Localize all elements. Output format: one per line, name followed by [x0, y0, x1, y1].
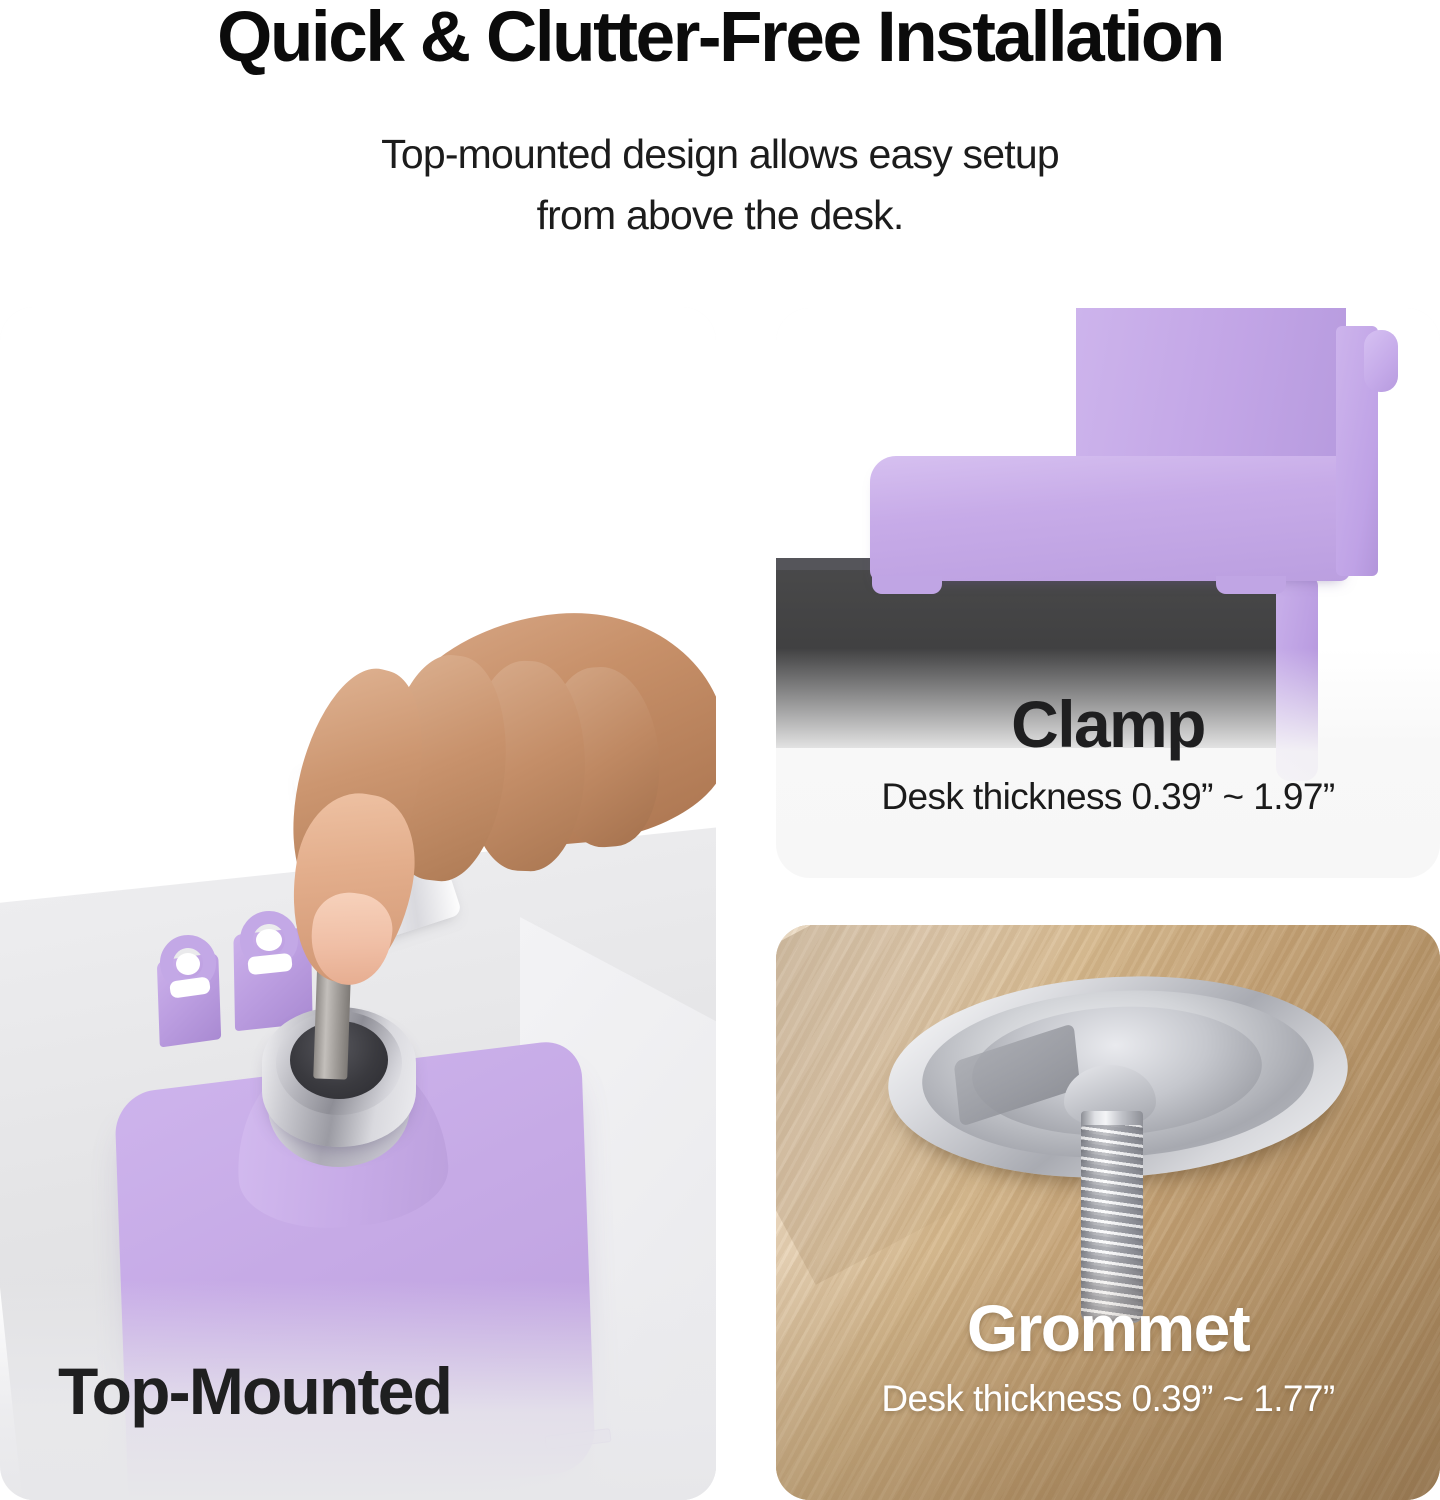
clamp-pad [872, 576, 942, 594]
page-title: Quick & Clutter-Free Installation [0, 2, 1440, 73]
clamp-horizontal-arm [870, 456, 1350, 581]
grommet-caption-block: Grommet Desk thickness 0.39” ~ 1.77” [776, 1295, 1440, 1421]
clamp-title: Clamp [776, 691, 1440, 757]
panel-clamp: Clamp Desk thickness 0.39” ~ 1.97” [776, 308, 1440, 878]
subtitle-line-1: Top-mounted design allows easy setup [0, 124, 1440, 185]
product-feature-page: Quick & Clutter-Free Installation Top-mo… [0, 0, 1440, 1500]
page-header: Quick & Clutter-Free Installation Top-mo… [0, 0, 1440, 300]
cable-clip-hole [176, 953, 200, 975]
clamp-pad [1216, 576, 1286, 594]
subtitle-line-2: from above the desk. [0, 185, 1440, 246]
clamp-knob [1364, 330, 1398, 392]
panel-grommet: Grommet Desk thickness 0.39” ~ 1.77” [776, 925, 1440, 1500]
grommet-spec: Desk thickness 0.39” ~ 1.77” [776, 1377, 1440, 1421]
panel-top-mounted [0, 307, 716, 1500]
clamp-caption-block: Clamp Desk thickness 0.39” ~ 1.97” [776, 691, 1440, 819]
grommet-title: Grommet [776, 1295, 1440, 1361]
top-mounted-caption: Top-Mounted [58, 1358, 451, 1424]
hand-illustration [255, 607, 716, 967]
clamp-spec: Desk thickness 0.39” ~ 1.97” [776, 775, 1440, 819]
page-subtitle: Top-mounted design allows easy setup fro… [0, 124, 1440, 245]
